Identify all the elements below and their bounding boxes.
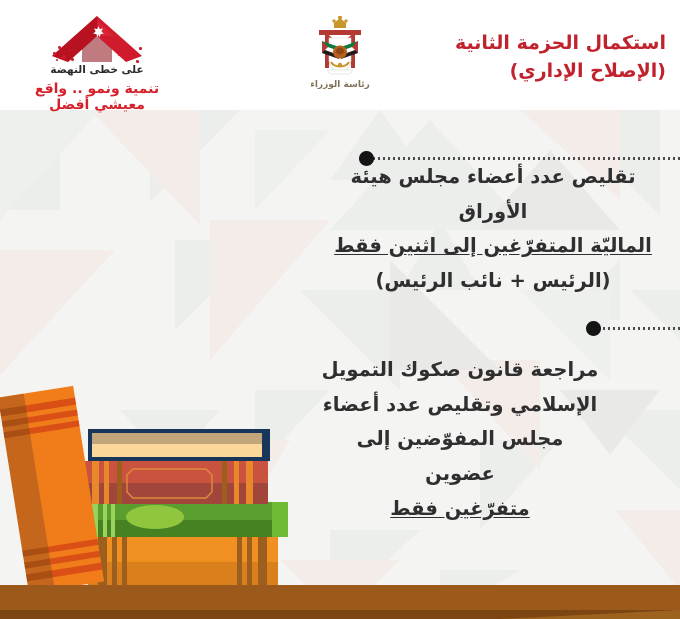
red-book-icon: [76, 461, 268, 504]
speckle-icon: [136, 60, 139, 63]
infographic-page: على خطى النهضة تنمية ونمو .. واقع معيشي …: [0, 0, 680, 619]
speckle-icon: [56, 59, 58, 61]
speckle-icon: [124, 46, 127, 49]
statement-2: مراجعة قانون صكوك التمويل الإسلامي وتقلي…: [320, 353, 600, 527]
statement-1-line-2: الماليّة المتفرّغين إلى اثنين فقط: [328, 229, 658, 264]
speckle-icon: [58, 46, 61, 49]
page-title: استكمال الحزمة الثانية (الإصلاح الإداري): [366, 30, 666, 85]
bullet-dot-2: [586, 321, 601, 336]
speckle-icon: [71, 58, 74, 61]
statement-1-line-1: تقليص عدد أعضاء مجلس هيئة الأوراق: [328, 160, 658, 229]
wooden-shelf: [0, 585, 680, 619]
statement-2-line-2: الإسلامي وتقليص عدد أعضاء: [320, 388, 600, 423]
seven-pointed-star-icon: [93, 26, 104, 37]
speckle-icon: [132, 51, 136, 55]
statement-2-line-3: مجلس المفوّضين إلى عضوين: [320, 422, 600, 491]
nahda-logo-tagline-top: على خطى النهضة: [12, 64, 182, 76]
speckle-icon: [118, 54, 120, 56]
stack-of-books-illustration: [0, 380, 310, 619]
speckle-icon: [139, 47, 142, 50]
statement-1: تقليص عدد أعضاء مجلس هيئة الأوراق المالي…: [328, 160, 658, 299]
speckle-icon: [62, 55, 66, 59]
nahda-logo-mark: [52, 16, 142, 62]
connector-line-2: [595, 327, 680, 330]
page-title-line-1: استكمال الحزمة الثانية: [366, 30, 666, 58]
books-svg: [0, 380, 310, 619]
statement-2-line-1: مراجعة قانون صكوك التمويل: [320, 353, 600, 388]
speckle-icon: [128, 57, 130, 59]
navy-book-icon: [88, 429, 270, 461]
statement-1-line-3: (الرئيس + نائب الرئيس): [328, 264, 658, 299]
page-header: على خطى النهضة تنمية ونمو .. واقع معيشي …: [0, 0, 680, 110]
speckle-icon: [53, 52, 56, 55]
nahda-logo: على خطى النهضة تنمية ونمو .. واقع معيشي …: [12, 14, 182, 102]
nahda-logo-tagline-bottom: تنمية ونمو .. واقع معيشي أفضل: [12, 81, 182, 113]
coat-of-arms-icon: [309, 16, 371, 80]
page-title-line-2: (الإصلاح الإداري): [366, 58, 666, 86]
orange-book-icon: [88, 535, 278, 586]
green-book-icon: [80, 502, 288, 537]
statement-2-line-4: متفرّغين فقط: [320, 492, 600, 527]
speckle-icon: [69, 49, 71, 51]
leaning-book-icon: [0, 386, 104, 593]
connector-dashes-2: [595, 327, 680, 330]
